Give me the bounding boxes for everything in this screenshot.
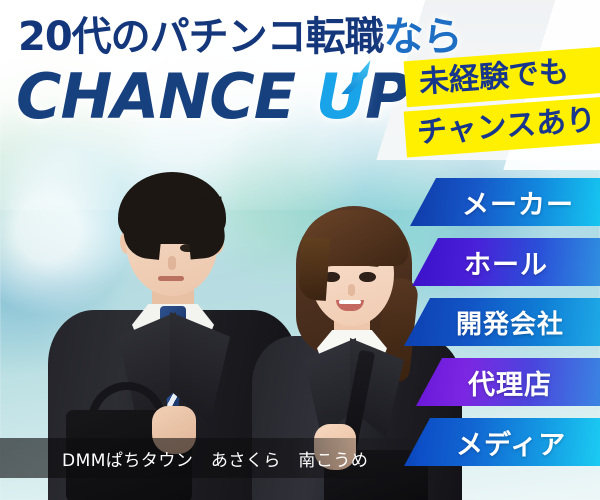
- logo-text-chance: CHANCE: [16, 60, 316, 133]
- category-button-maker[interactable]: メーカー: [410, 178, 600, 226]
- caption-bar: DMMぱちタウン あさくら 南こうめ: [0, 438, 420, 478]
- headline-line-1-main: 20代のパチンコ転職: [18, 14, 384, 60]
- category-button-hall[interactable]: ホール: [412, 238, 600, 286]
- caption-text: DMMぱちタウン あさくら 南こうめ: [0, 446, 368, 471]
- category-button-media[interactable]: メディア: [404, 418, 600, 466]
- category-button-developer[interactable]: 開発会社: [404, 298, 600, 346]
- category-label-maker: メーカー: [462, 183, 574, 222]
- male-mouth: [158, 276, 184, 281]
- chance-up-banner: 20代のパチンコ転職なら CHANCE UP 未経験でも チャンスあり！ メーカ…: [0, 0, 600, 500]
- category-label-hall: ホール: [464, 243, 548, 282]
- logo-letter-u: U: [316, 66, 365, 128]
- promo-badges: 未経験でも チャンスあり！: [405, 54, 600, 150]
- logo-letter-u-text: U: [316, 60, 365, 133]
- category-label-agency: 代理店: [468, 363, 552, 402]
- badge-chance: チャンスあり！: [404, 96, 600, 157]
- category-list: メーカー ホール 開発会社 代理店 メディア: [370, 178, 600, 478]
- male-hair: [118, 172, 226, 244]
- category-label-developer: 開発会社: [456, 304, 564, 341]
- headline-line-1: 20代のパチンコ転職なら: [18, 17, 462, 57]
- female-nose: [348, 284, 355, 296]
- category-label-media: メディア: [456, 423, 566, 462]
- logo-text-p: P: [365, 60, 409, 133]
- category-button-agency[interactable]: 代理店: [416, 358, 600, 406]
- badge-inexperienced: 未経験でも: [404, 47, 600, 107]
- male-nose: [168, 256, 176, 270]
- chance-up-logo: CHANCE UP: [16, 66, 410, 128]
